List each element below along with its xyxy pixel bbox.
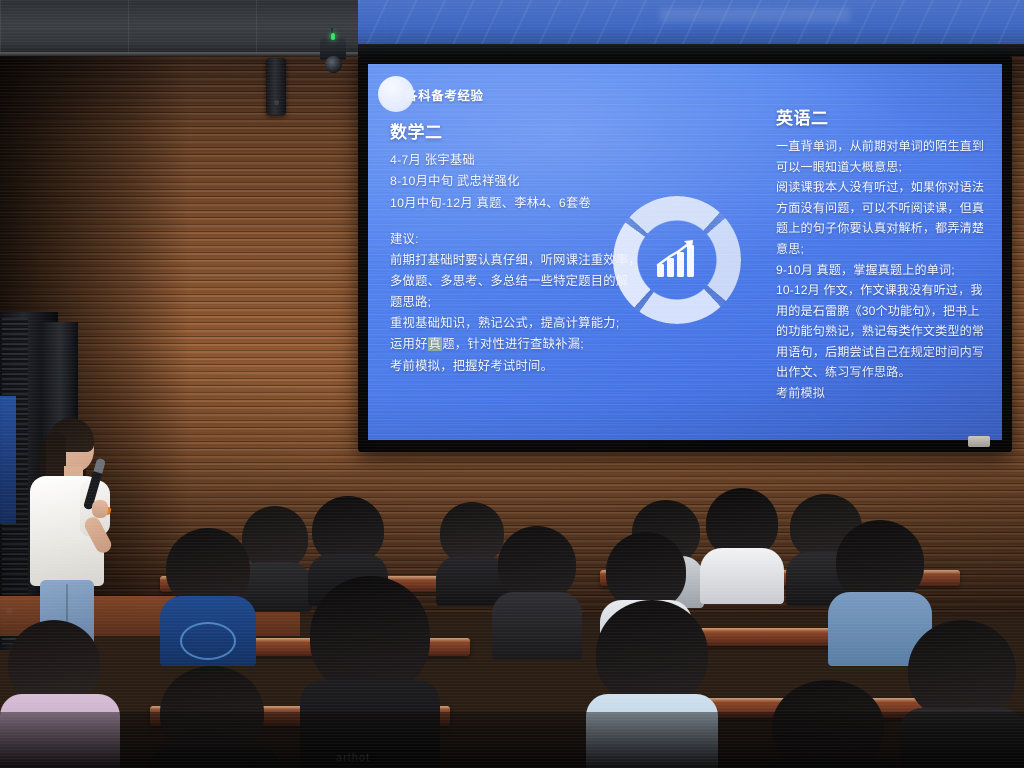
audience-person [160,528,256,658]
audience-person [492,526,582,652]
audience-head [498,526,576,602]
foreground-shadow [0,712,1024,768]
audience-head [310,576,430,694]
audience-head [596,600,708,706]
reflection-shadow-strip [358,44,1024,56]
audience-person [700,488,784,592]
lecture-hall-scene: 各科备考经验 数学二 4-7月 张宇基础 8-10月中旬 武忠祥强化 10月中旬… [0,0,1024,768]
audience-head [908,620,1016,720]
reflection-ghost-text [660,8,850,22]
camera-status-led [331,33,335,40]
audience-torso [700,548,784,604]
shirt-graphic-icon [180,622,236,660]
audience-torso [492,592,582,660]
audience-head [606,532,686,610]
